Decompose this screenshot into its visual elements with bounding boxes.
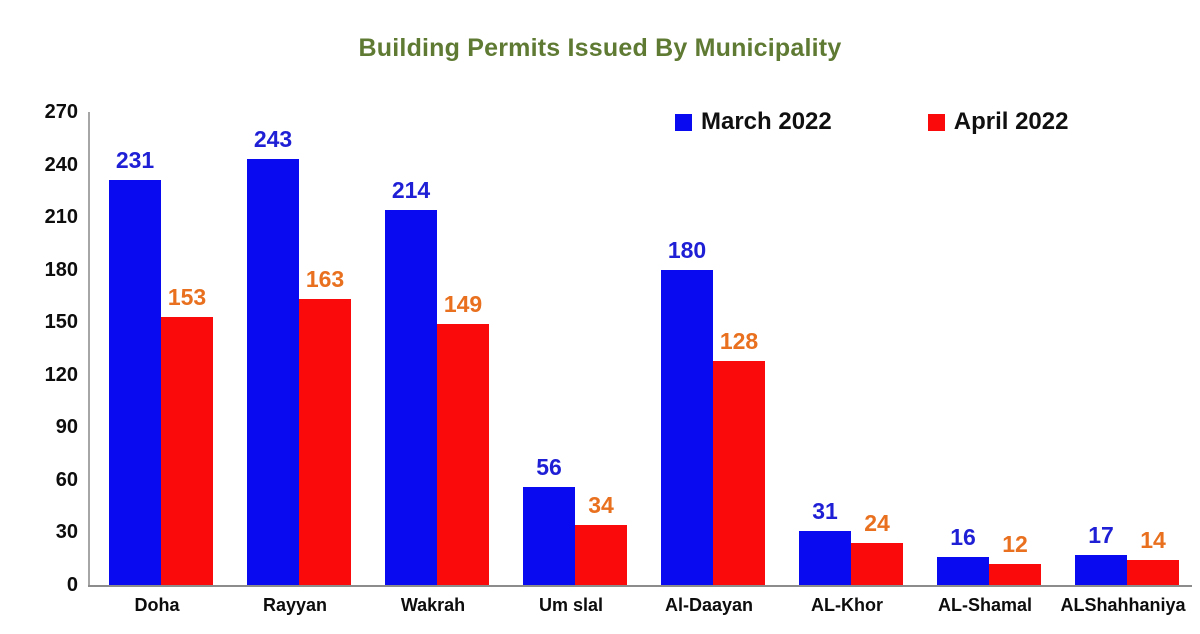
y-tick-label-30: 30 [6,522,78,542]
bar-value-label: 243 [228,128,318,151]
bar-value-label: 149 [418,293,508,316]
y-tick-label-240: 240 [6,155,78,175]
bar-chart: Building Permits Issued By Municipality … [0,0,1200,634]
x-axis-label-um-slal: Um slal [502,596,640,614]
y-tick-label-270: 270 [6,102,78,122]
y-tick-label-150: 150 [6,312,78,332]
bar-april[interactable] [575,525,627,585]
bar-value-label: 231 [90,149,180,172]
x-axis-line [88,585,1192,587]
bar-value-label: 24 [832,512,922,535]
x-axis-label-al-shamal: AL-Shamal [916,596,1054,614]
bar-march[interactable] [937,557,989,585]
bar-april[interactable] [713,361,765,585]
y-tick-label-0: 0 [6,575,78,595]
bar-value-label: 12 [970,533,1060,556]
x-axis-label-alshahhaniya: ALShahhaniya [1054,596,1192,614]
bar-march[interactable] [247,159,299,585]
bar-march[interactable] [799,531,851,585]
bar-value-label: 14 [1108,529,1198,552]
bar-group: 5634 [523,112,627,585]
bar-group: 3124 [799,112,903,585]
x-axis-label-al-khor: AL-Khor [778,596,916,614]
x-axis-label-al-daayan: Al-Daayan [640,596,778,614]
y-tick-label-60: 60 [6,470,78,490]
bar-april[interactable] [851,543,903,585]
bar-group: 1714 [1075,112,1179,585]
bar-march[interactable] [1075,555,1127,585]
plot-area: 2311532431632141495634180128312416121714 [88,112,1192,585]
bar-april[interactable] [299,299,351,585]
bar-group: 1612 [937,112,1041,585]
chart-title: Building Permits Issued By Municipality [0,34,1200,63]
bar-value-label: 214 [366,179,456,202]
y-tick-label-180: 180 [6,260,78,280]
bar-group: 243163 [247,112,351,585]
bar-april[interactable] [437,324,489,585]
bar-group: 214149 [385,112,489,585]
bar-value-label: 56 [504,456,594,479]
bar-group: 231153 [109,112,213,585]
y-tick-label-120: 120 [6,365,78,385]
bar-group: 180128 [661,112,765,585]
y-tick-label-210: 210 [6,207,78,227]
bar-april[interactable] [161,317,213,585]
bar-march[interactable] [385,210,437,585]
bar-value-label: 180 [642,239,732,262]
bar-value-label: 163 [280,268,370,291]
bar-april[interactable] [989,564,1041,585]
bar-value-label: 34 [556,494,646,517]
bar-april[interactable] [1127,560,1179,585]
y-axis-tick-labels: 2702402101801501209060300 [0,0,78,634]
x-axis-label-doha: Doha [88,596,226,614]
bar-value-label: 128 [694,330,784,353]
bar-march[interactable] [661,270,713,585]
x-axis-label-rayyan: Rayyan [226,596,364,614]
y-tick-label-90: 90 [6,417,78,437]
bar-value-label: 153 [142,286,232,309]
bar-march[interactable] [109,180,161,585]
x-axis-label-wakrah: Wakrah [364,596,502,614]
